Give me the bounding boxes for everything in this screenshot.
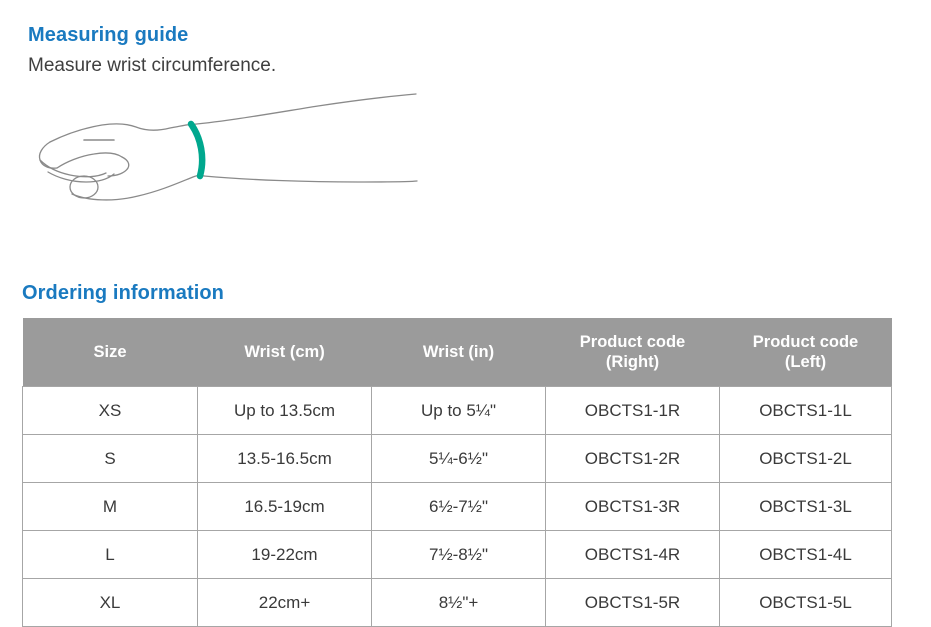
column-header-product-code-left-line2: (Left): [726, 352, 886, 372]
table-header: Size Wrist (cm) Wrist (in) Product code …: [23, 318, 892, 387]
cell-size: XL: [23, 579, 198, 627]
cell-wrist-cm: 19-22cm: [198, 531, 372, 579]
hand-wrist-illustration-svg: [18, 84, 428, 214]
column-header-wrist-in-line1: Wrist (in): [378, 342, 540, 362]
table-header-row: Size Wrist (cm) Wrist (in) Product code …: [23, 318, 892, 387]
cell-wrist-in: 6½-7½": [372, 483, 546, 531]
column-header-product-code-left-line1: Product code: [726, 332, 886, 352]
cell-size: M: [23, 483, 198, 531]
cell-product-code-right: OBCTS1-1R: [546, 387, 720, 435]
cell-wrist-in: 7½-8½": [372, 531, 546, 579]
ordering-information-heading: Ordering information: [22, 280, 902, 306]
table-row: XL 22cm+ 8½"+ OBCTS1-5R OBCTS1-5L: [23, 579, 892, 627]
measuring-guide-heading: Measuring guide: [28, 22, 898, 48]
table-body: XS Up to 13.5cm Up to 5¼" OBCTS1-1R OBCT…: [23, 387, 892, 627]
table-row: XS Up to 13.5cm Up to 5¼" OBCTS1-1R OBCT…: [23, 387, 892, 435]
measuring-guide-subtext: Measure wrist circumference.: [28, 54, 898, 78]
column-header-product-code-right: Product code (Right): [546, 318, 720, 387]
cell-wrist-cm: 16.5-19cm: [198, 483, 372, 531]
hand-top-line: [50, 124, 186, 142]
hand-knuckle-line: [39, 142, 57, 168]
cell-size: XS: [23, 387, 198, 435]
cell-product-code-left: OBCTS1-5L: [720, 579, 892, 627]
column-header-wrist-cm: Wrist (cm): [198, 318, 372, 387]
ordering-information-table: Size Wrist (cm) Wrist (in) Product code …: [22, 318, 892, 627]
cell-wrist-in: Up to 5¼": [372, 387, 546, 435]
cell-size: L: [23, 531, 198, 579]
table-row: L 19-22cm 7½-8½" OBCTS1-4R OBCTS1-4L: [23, 531, 892, 579]
size-guide-page: Measuring guide Measure wrist circumfere…: [0, 0, 931, 615]
cell-wrist-cm: Up to 13.5cm: [198, 387, 372, 435]
cell-wrist-cm: 22cm+: [198, 579, 372, 627]
cell-wrist-cm: 13.5-16.5cm: [198, 435, 372, 483]
ordering-information-section: Ordering information: [22, 280, 902, 306]
cell-product-code-right: OBCTS1-2R: [546, 435, 720, 483]
finger-line-1: [57, 153, 122, 168]
cell-wrist-in: 8½"+: [372, 579, 546, 627]
column-header-product-code-right-line2: (Right): [552, 352, 714, 372]
cell-wrist-in: 5¼-6½": [372, 435, 546, 483]
column-header-size-line1: Size: [29, 342, 192, 362]
forearm-top-line: [186, 94, 416, 125]
table-row: M 16.5-19cm 6½-7½" OBCTS1-3R OBCTS1-3L: [23, 483, 892, 531]
table-row: S 13.5-16.5cm 5¼-6½" OBCTS1-2R OBCTS1-2L: [23, 435, 892, 483]
cell-product-code-right: OBCTS1-5R: [546, 579, 720, 627]
cell-product-code-left: OBCTS1-3L: [720, 483, 892, 531]
column-header-wrist-cm-line1: Wrist (cm): [204, 342, 366, 362]
column-header-product-code-left: Product code (Left): [720, 318, 892, 387]
measuring-guide-section: Measuring guide Measure wrist circumfere…: [28, 22, 898, 78]
hand-wrist-measurement-illustration: [18, 84, 428, 214]
forearm-bottom-line: [204, 176, 417, 182]
cell-product-code-right: OBCTS1-4R: [546, 531, 720, 579]
column-header-product-code-right-line1: Product code: [552, 332, 714, 352]
finger-tip-line: [108, 157, 129, 176]
cell-product-code-left: OBCTS1-2L: [720, 435, 892, 483]
column-header-wrist-in: Wrist (in): [372, 318, 546, 387]
cell-size: S: [23, 435, 198, 483]
cell-product-code-right: OBCTS1-3R: [546, 483, 720, 531]
measuring-band-icon: [191, 124, 202, 176]
column-header-size: Size: [23, 318, 198, 387]
cell-product-code-left: OBCTS1-1L: [720, 387, 892, 435]
cell-product-code-left: OBCTS1-4L: [720, 531, 892, 579]
